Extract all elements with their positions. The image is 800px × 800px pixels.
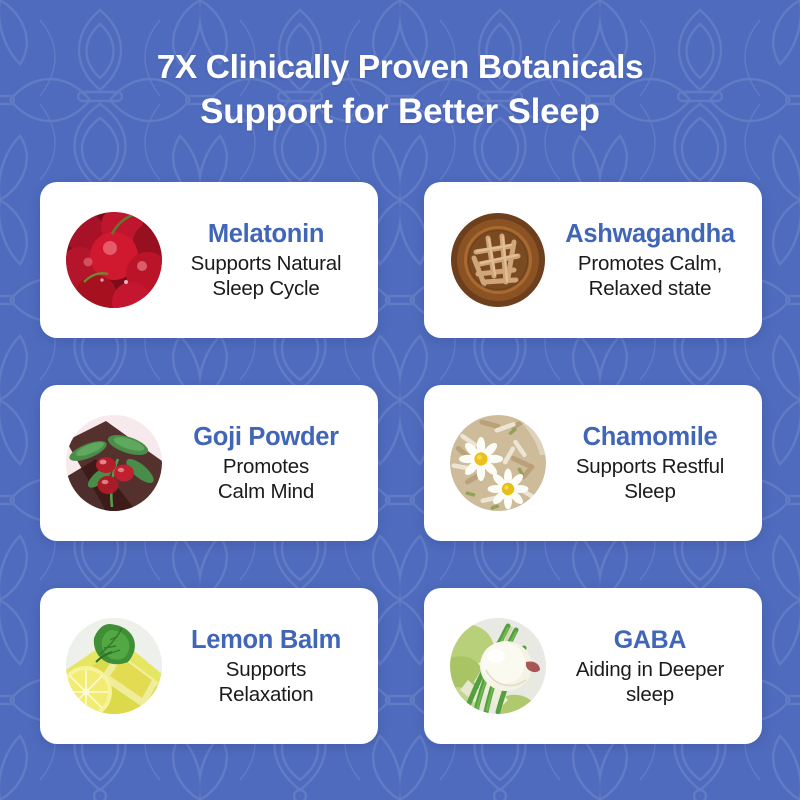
headline-line-2: Support for Better Sleep xyxy=(0,90,800,134)
ingredient-card-ashwagandha[interactable]: Ashwagandha Promotes Calm, Relaxed state xyxy=(424,182,762,338)
ingredient-card-grid: Melatonin Supports Natural Sleep Cycle xyxy=(40,182,762,744)
desc-line-2: Sleep xyxy=(554,479,746,504)
ingredient-description: Aiding in Deeper sleep xyxy=(554,657,746,707)
desc-line-2: Relaxed state xyxy=(554,276,746,301)
ingredient-card-goji-powder[interactable]: Goji Powder Promotes Calm Mind xyxy=(40,385,378,541)
vegetables-photo xyxy=(450,618,546,714)
cherries-photo xyxy=(66,212,162,308)
ingredient-description: Supports Natural Sleep Cycle xyxy=(170,251,362,301)
desc-line-2: Relaxation xyxy=(170,682,362,707)
dried-chamomile-flowers-photo xyxy=(450,415,546,511)
desc-line-1: Supports Natural xyxy=(170,251,362,276)
ingredient-title: Lemon Balm xyxy=(170,625,362,656)
ingredient-title: GABA xyxy=(554,625,746,656)
card-text-block: Goji Powder Promotes Calm Mind xyxy=(162,422,364,504)
lemon-balm-oil-photo xyxy=(66,618,162,714)
goji-berries-branch-photo xyxy=(66,415,162,511)
card-text-block: Lemon Balm Supports Relaxation xyxy=(162,625,364,707)
desc-line-1: Aiding in Deeper xyxy=(554,657,746,682)
ingredient-title: Ashwagandha xyxy=(554,219,746,250)
headline-line-1: 7X Clinically Proven Botanicals xyxy=(0,46,800,90)
poster-header: 7X Clinically Proven Botanicals Support … xyxy=(0,46,800,134)
sleep-botanicals-poster: 7X Clinically Proven Botanicals Support … xyxy=(0,0,800,800)
ingredient-card-gaba[interactable]: GABA Aiding in Deeper sleep xyxy=(424,588,762,744)
ingredient-card-melatonin[interactable]: Melatonin Supports Natural Sleep Cycle xyxy=(40,182,378,338)
desc-line-1: Promotes Calm, xyxy=(554,251,746,276)
desc-line-1: Supports xyxy=(170,657,362,682)
desc-line-2: Calm Mind xyxy=(170,479,362,504)
ingredient-description: Promotes Calm Mind xyxy=(170,454,362,504)
ashwagandha-root-bowl-photo xyxy=(450,212,546,308)
desc-line-2: sleep xyxy=(554,682,746,707)
desc-line-1: Supports Restful xyxy=(554,454,746,479)
ingredient-title: Goji Powder xyxy=(170,422,362,453)
ingredient-title: Melatonin xyxy=(170,219,362,250)
ingredient-description: Supports Relaxation xyxy=(170,657,362,707)
card-text-block: Chamomile Supports Restful Sleep xyxy=(546,422,748,504)
card-text-block: Melatonin Supports Natural Sleep Cycle xyxy=(162,219,364,301)
ingredient-description: Supports Restful Sleep xyxy=(554,454,746,504)
desc-line-2: Sleep Cycle xyxy=(170,276,362,301)
ingredient-card-lemon-balm[interactable]: Lemon Balm Supports Relaxation xyxy=(40,588,378,744)
ingredient-description: Promotes Calm, Relaxed state xyxy=(554,251,746,301)
ingredient-card-chamomile[interactable]: Chamomile Supports Restful Sleep xyxy=(424,385,762,541)
card-text-block: Ashwagandha Promotes Calm, Relaxed state xyxy=(546,219,748,301)
card-text-block: GABA Aiding in Deeper sleep xyxy=(546,625,748,707)
ingredient-title: Chamomile xyxy=(554,422,746,453)
desc-line-1: Promotes xyxy=(170,454,362,479)
